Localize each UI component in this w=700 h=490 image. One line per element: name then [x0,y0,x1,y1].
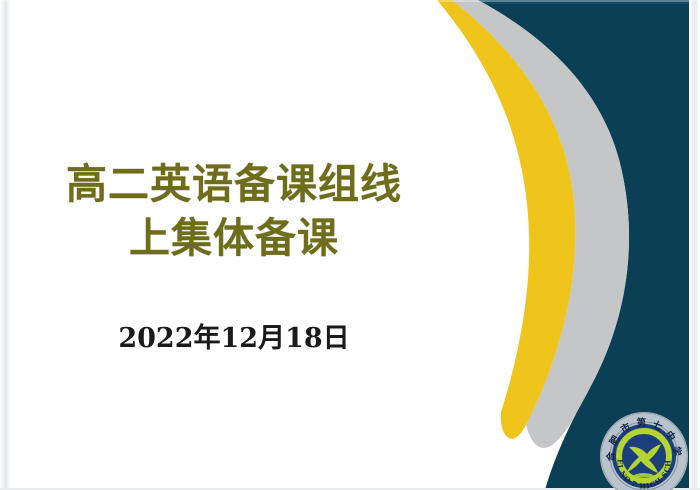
school-logo: 合肥市第七中学 HEFEI NO.7 HIGH SCHOOL [598,410,690,490]
navy-top-highlight [478,0,700,4]
slide-date: 2022年12月18日 [34,316,434,355]
presentation-slide: 高二英语备课组线 上集体备课 2022年12月18日 [0,0,700,490]
slide-title: 高二英语备课组线 上集体备课 [34,158,434,265]
hefei-no7-high-school-logo-icon: 合肥市第七中学 HEFEI NO.7 HIGH SCHOOL [598,410,690,490]
title-block: 高二英语备课组线 上集体备课 [34,158,434,265]
